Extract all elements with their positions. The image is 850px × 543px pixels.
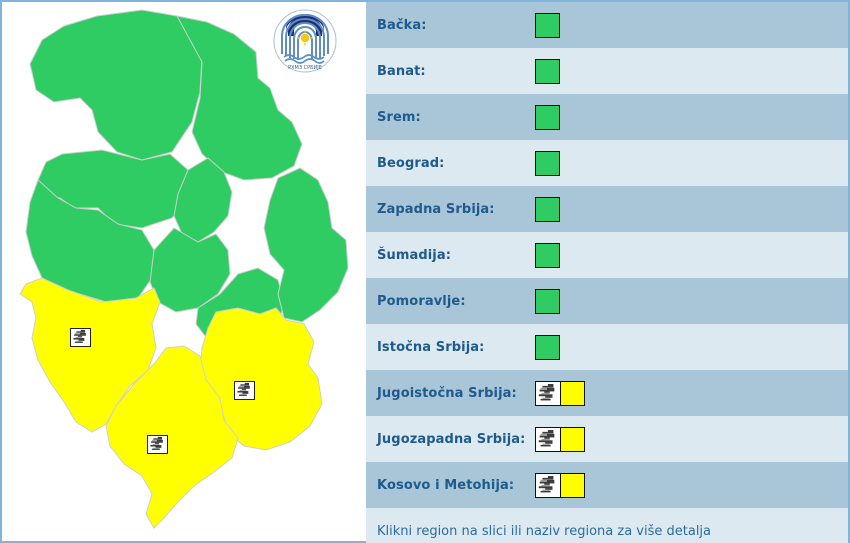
severity-swatch-green [535, 243, 560, 268]
region-name-link[interactable]: Jugoistočna Srbija: [366, 386, 527, 401]
severity-indicator[interactable] [535, 105, 560, 130]
region-name-link[interactable]: Kosovo i Metohija: [366, 478, 527, 493]
region-name-link[interactable]: Beograd: [366, 156, 527, 171]
severity-indicator[interactable] [535, 289, 560, 314]
region-row[interactable]: Šumadija: [366, 232, 848, 278]
severity-indicator[interactable] [535, 473, 585, 498]
severity-indicator[interactable] [535, 151, 560, 176]
weather-warning-page: РХМЗ СРБИЈЕ Bačka:Banat:Srem:Beograd:Zap… [0, 0, 850, 543]
severity-swatch-green [535, 13, 560, 38]
region-name-link[interactable]: Srem: [366, 110, 527, 125]
wind-icon [536, 474, 558, 496]
map-warning-icon-kosovo [147, 435, 168, 454]
footer-hint-text: Klikni region na slici ili naziv regiona… [366, 524, 711, 539]
map-warning-icon-jugoistocna [234, 381, 255, 400]
region-rows: Bačka:Banat:Srem:Beograd:Zapadna Srbija:… [366, 2, 848, 508]
region-name-link[interactable]: Zapadna Srbija: [366, 202, 527, 217]
wind-icon [536, 428, 558, 450]
rhmz-serbia-logo: РХМЗ СРБИЈЕ [272, 8, 338, 74]
region-row[interactable]: Beograd: [366, 140, 848, 186]
region-row[interactable]: Zapadna Srbija: [366, 186, 848, 232]
svg-text:РХМЗ СРБИЈЕ: РХМЗ СРБИЈЕ [288, 65, 322, 71]
region-row[interactable]: Istočna Srbija: [366, 324, 848, 370]
severity-indicator[interactable] [535, 197, 560, 222]
wind-icon [535, 427, 560, 452]
severity-swatch-green [535, 59, 560, 84]
region-row[interactable]: Jugozapadna Srbija: [366, 416, 848, 462]
serbia-map[interactable] [2, 2, 366, 543]
list-footer: Klikni region na slici ili naziv regiona… [366, 508, 848, 543]
region-name-link[interactable]: Istočna Srbija: [366, 340, 527, 355]
region-row[interactable]: Kosovo i Metohija: [366, 462, 848, 508]
severity-indicator[interactable] [535, 13, 560, 38]
region-row[interactable]: Jugoistočna Srbija: [366, 370, 848, 416]
severity-swatch-yellow [560, 381, 585, 406]
wind-icon [535, 381, 560, 406]
severity-indicator[interactable] [535, 427, 585, 452]
severity-swatch-green [535, 105, 560, 130]
severity-indicator[interactable] [535, 335, 560, 360]
wind-icon [148, 436, 166, 452]
severity-indicator[interactable] [535, 381, 585, 406]
severity-swatch-yellow [560, 427, 585, 452]
severity-swatch-yellow [560, 473, 585, 498]
severity-swatch-green [535, 335, 560, 360]
region-name-link[interactable]: Jugozapadna Srbija: [366, 432, 527, 447]
wind-icon [536, 382, 558, 404]
wind-icon [235, 382, 253, 398]
wind-icon [535, 473, 560, 498]
map-warning-icon-zapadna [70, 328, 91, 347]
region-name-link[interactable]: Banat: [366, 64, 527, 79]
severity-swatch-green [535, 289, 560, 314]
map-panel[interactable]: РХМЗ СРБИЈЕ [0, 0, 366, 543]
region-name-link[interactable]: Bačka: [366, 18, 527, 33]
region-name-link[interactable]: Pomoravlje: [366, 294, 527, 309]
region-name-link[interactable]: Šumadija: [366, 248, 527, 263]
region-row[interactable]: Srem: [366, 94, 848, 140]
region-row[interactable]: Banat: [366, 48, 848, 94]
severity-indicator[interactable] [535, 243, 560, 268]
map-region-backa[interactable] [30, 10, 202, 160]
severity-swatch-green [535, 197, 560, 222]
severity-indicator[interactable] [535, 59, 560, 84]
region-row[interactable]: Pomoravlje: [366, 278, 848, 324]
severity-swatch-green [535, 151, 560, 176]
wind-icon [71, 329, 89, 345]
region-row[interactable]: Bačka: [366, 2, 848, 48]
region-warning-list: Bačka:Banat:Srem:Beograd:Zapadna Srbija:… [366, 0, 850, 543]
